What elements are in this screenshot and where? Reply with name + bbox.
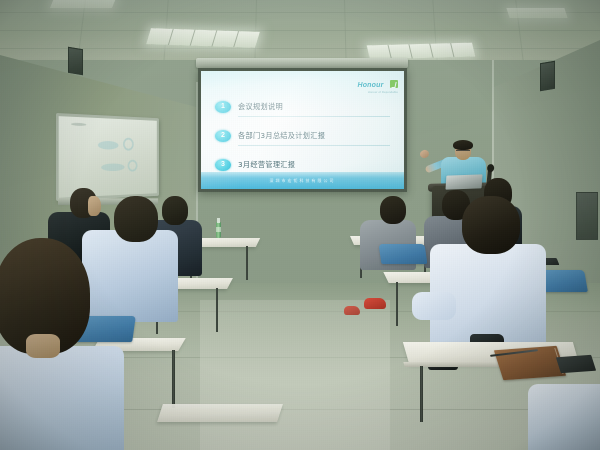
agenda-item: 1 会议规划说明 — [215, 99, 392, 114]
attendee-head — [114, 196, 158, 242]
red-shoe — [364, 298, 386, 309]
attendee-torso — [82, 230, 178, 322]
meeting-room-photo: Honour Honour of Dependable 1 会议规划说明 2 各… — [0, 0, 600, 450]
attendee-neck — [26, 334, 60, 358]
agenda-item-label: 3月经营管理汇报 — [238, 160, 295, 170]
attendee-head — [462, 196, 520, 254]
attendee-head — [162, 196, 188, 225]
agenda-item: 2 各部门3月总结及计划汇报 — [215, 128, 392, 143]
agenda-number-badge: 1 — [215, 101, 231, 113]
smartphone — [556, 355, 596, 373]
water-bottle — [216, 222, 221, 238]
presenter-hair — [453, 140, 473, 150]
attendee-face — [88, 196, 101, 216]
projection-screen-housing — [196, 58, 408, 68]
slide-footer-text: 深圳市宏钜科技有限公司 — [270, 178, 336, 184]
agenda-item-label: 会议规划说明 — [238, 102, 283, 112]
ceiling-light-far-right — [506, 8, 567, 18]
wall-speaker-far-right — [576, 192, 598, 240]
presentation-slide: Honour Honour of Dependable 1 会议规划说明 2 各… — [201, 71, 404, 189]
ceiling-light-far-left — [50, 0, 116, 8]
attendee-head — [380, 196, 406, 224]
brand-tagline: Honour of Dependable — [357, 92, 398, 95]
wall-speaker-left — [68, 47, 83, 75]
wall-speaker-right — [540, 61, 555, 91]
brand-logo: Honour Honour of Dependable — [357, 75, 398, 95]
agenda-underline — [238, 116, 390, 117]
center-aisle — [200, 300, 390, 450]
agenda-number-badge: 2 — [215, 130, 231, 142]
presenter-glasses — [456, 150, 470, 153]
projection-screen: Honour Honour of Dependable 1 会议规划说明 2 各… — [198, 68, 407, 192]
whiteboard — [56, 113, 159, 201]
laptop — [445, 174, 482, 189]
agenda-item: 3 3月经营管理汇报 — [215, 157, 392, 172]
attendee-torso — [0, 346, 124, 450]
slide-footer: 深圳市宏钜科技有限公司 — [201, 172, 404, 189]
agenda-number-badge: 3 — [215, 159, 231, 171]
ceiling-light-right — [367, 43, 476, 60]
agenda-item-label: 各部门3月总结及计划汇报 — [238, 131, 325, 141]
brand-name: Honour — [357, 82, 383, 89]
attendee-torso — [528, 384, 600, 450]
agenda-underline — [238, 145, 390, 146]
brand-check-icon — [390, 80, 398, 88]
red-shoe — [344, 306, 360, 315]
attendee-arm — [412, 292, 456, 320]
chair — [379, 244, 428, 264]
desk — [157, 404, 283, 422]
